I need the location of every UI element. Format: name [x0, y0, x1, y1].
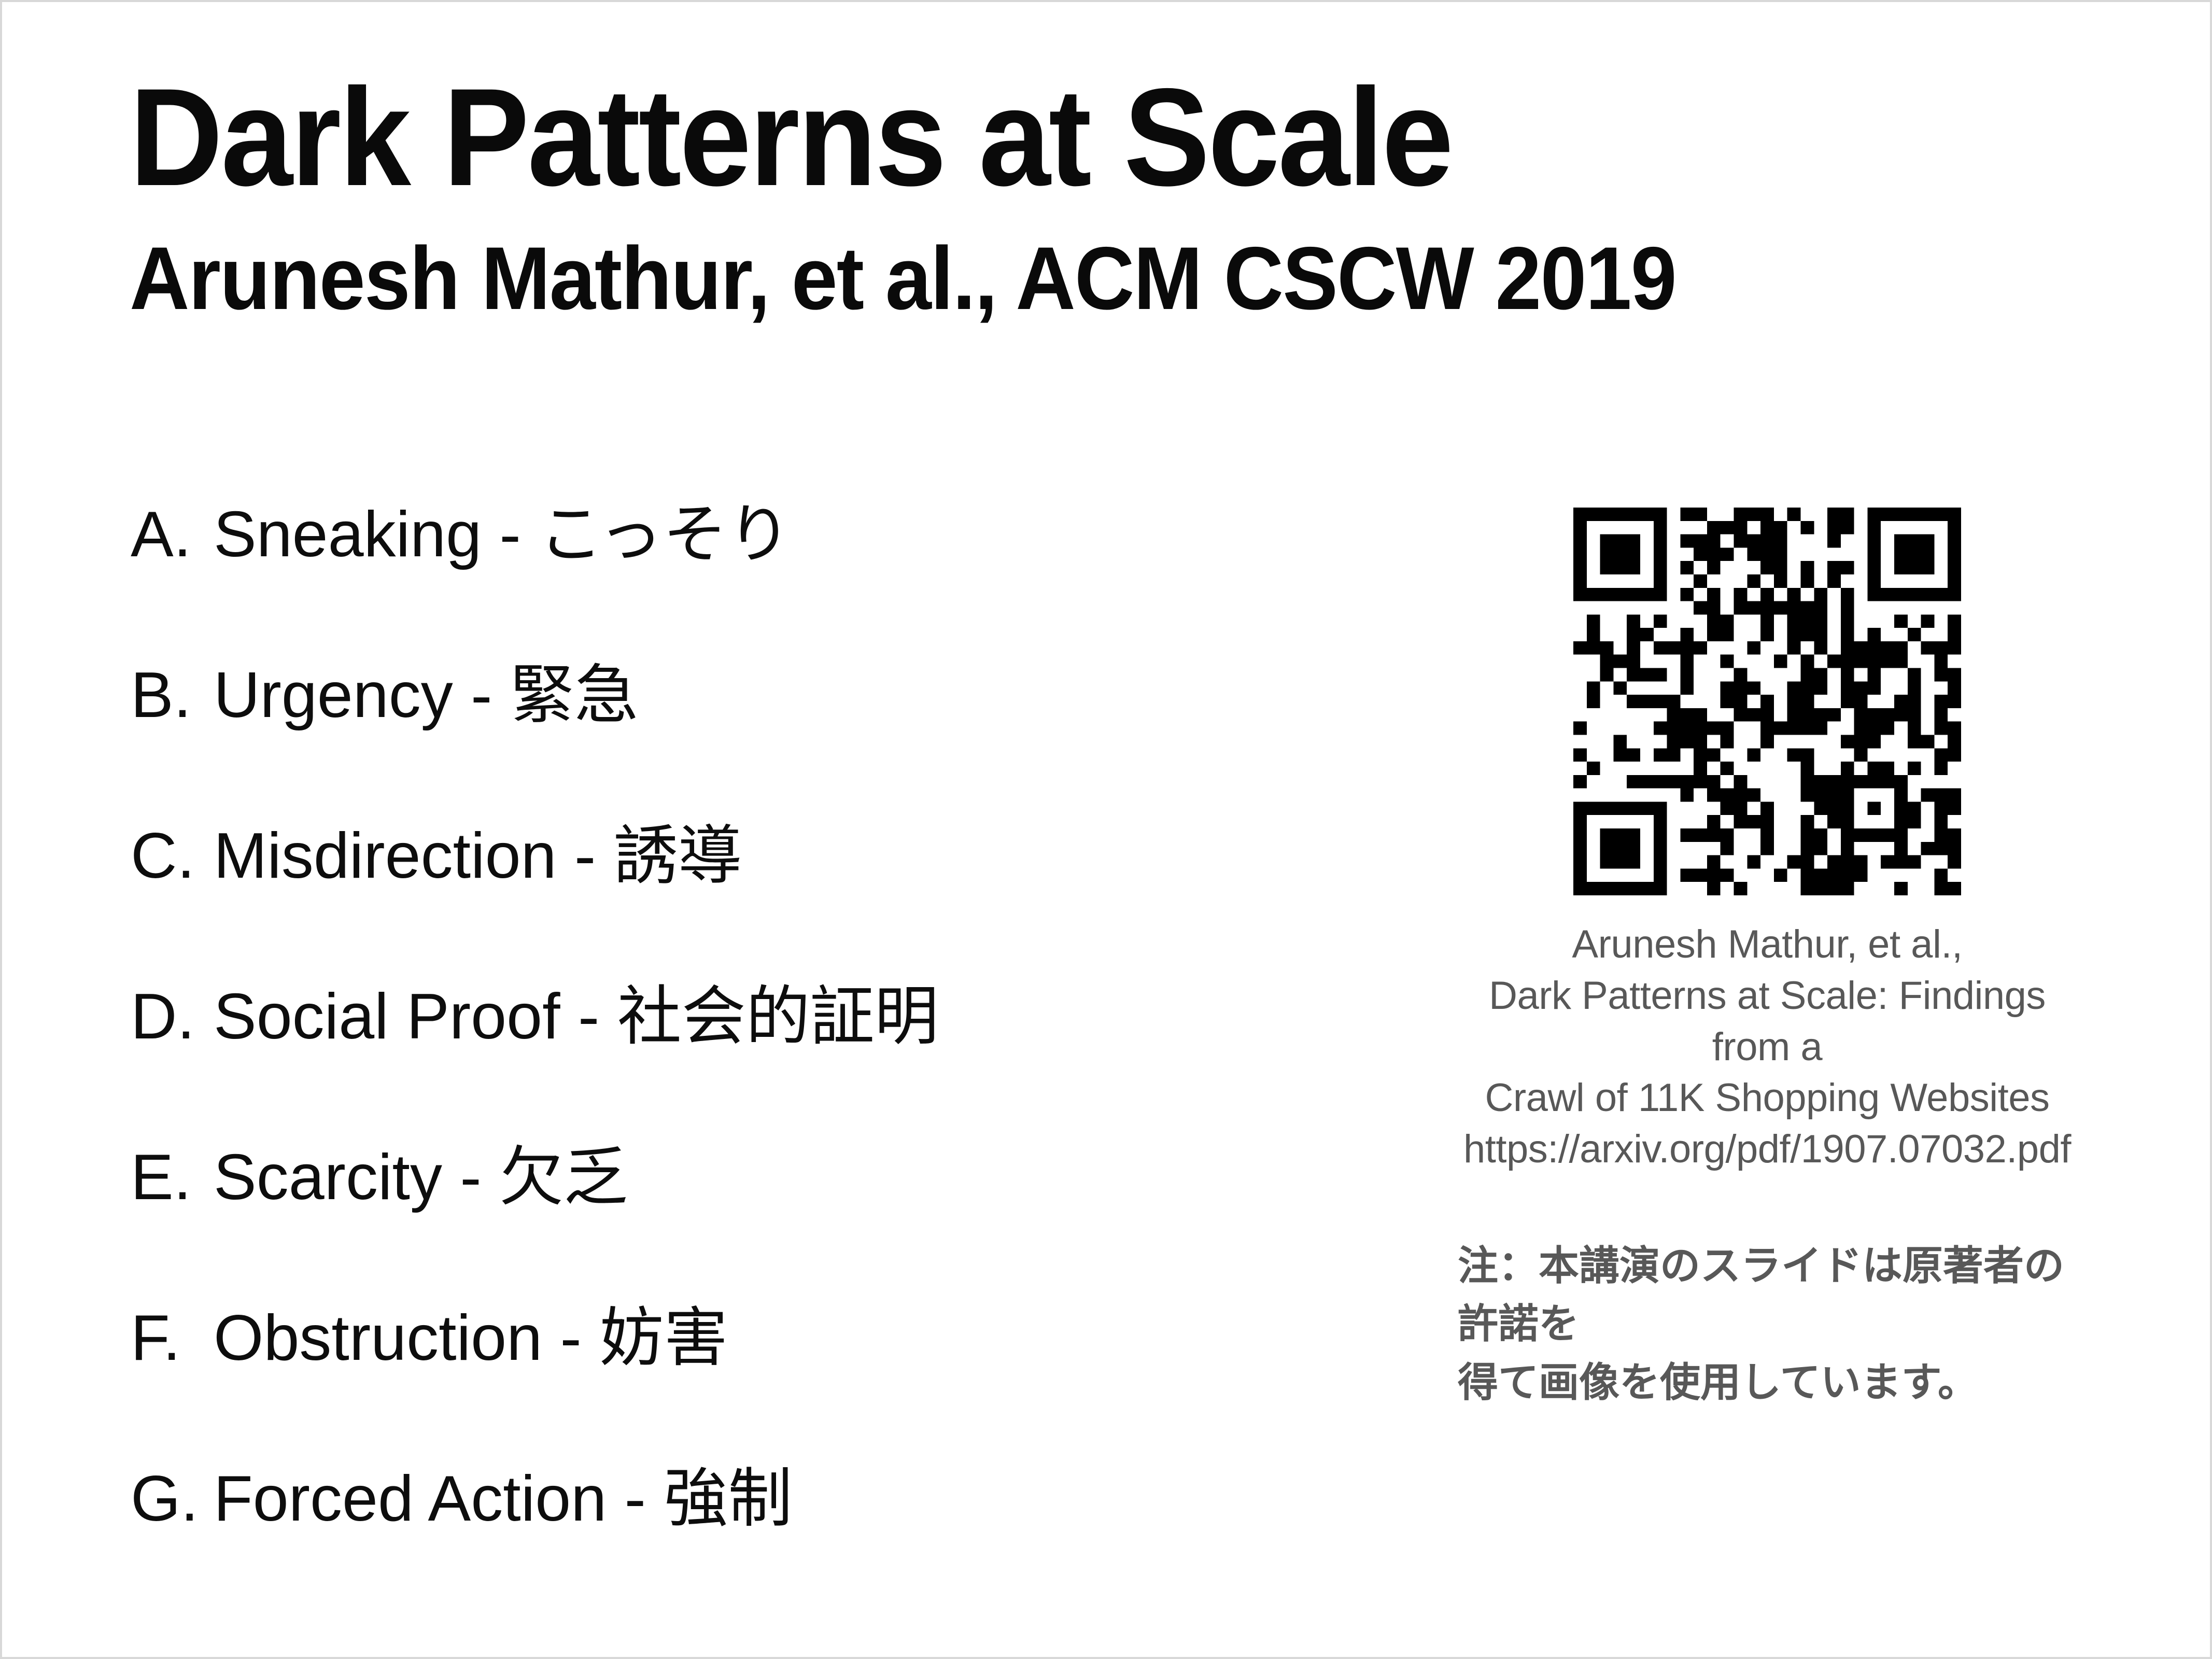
list-item: F. Obstruction - 妨害	[131, 1306, 1427, 1467]
qr-code-icon[interactable]	[1573, 508, 1961, 895]
list-item-marker: C.	[131, 824, 214, 888]
permission-note-line: 得て画像を使用しています。	[1458, 1353, 2082, 1411]
dark-pattern-list: A. Sneaking - こっそり B. Urgency - 緊急 C. Mi…	[131, 502, 1427, 1627]
list-item-marker: F.	[131, 1306, 214, 1370]
list-item: G. Forced Action - 強制	[131, 1467, 1427, 1627]
list-item-marker: D.	[131, 985, 214, 1049]
list-item-marker: E.	[131, 1145, 214, 1210]
reference-caption-line: Arunesh Mathur, et al.,	[1448, 919, 2086, 971]
reference-caption-line: Crawl of 11K Shopping Websites	[1448, 1073, 2086, 1124]
page-title: Dark Patterns at Scale	[130, 64, 1721, 210]
list-item-label: Scarcity - 欠乏	[214, 1145, 628, 1210]
list-item-label: Urgency - 緊急	[214, 663, 639, 727]
list-item-marker: A.	[131, 502, 214, 567]
list-item: D. Social Proof - 社会的証明	[131, 985, 1427, 1145]
list-item-marker: B.	[131, 663, 214, 727]
list-item-label: Misdirection - 誘導	[214, 824, 742, 888]
title-block: Dark Patterns at Scale Arunesh Mathur, e…	[130, 64, 1840, 329]
reference-caption: Arunesh Mathur, et al., Dark Patterns at…	[1448, 919, 2086, 1175]
reference-column: Arunesh Mathur, et al., Dark Patterns at…	[1448, 508, 2086, 1411]
presentation-slide: Dark Patterns at Scale Arunesh Mathur, e…	[0, 0, 2212, 1659]
list-item-marker: G.	[131, 1467, 214, 1531]
permission-note: 注：本講演のスライドは原著者の許諾を 得て画像を使用しています。	[1448, 1236, 2086, 1411]
page-subtitle: Arunesh Mathur, et al., ACM CSCW 2019	[130, 229, 1721, 329]
list-item: A. Sneaking - こっそり	[131, 502, 1427, 663]
list-item-label: Sneaking - こっそり	[214, 502, 792, 567]
list-item-label: Forced Action - 強制	[214, 1467, 792, 1531]
list-item: B. Urgency - 緊急	[131, 663, 1427, 824]
list-item-label: Social Proof - 社会的証明	[214, 985, 939, 1049]
permission-note-line: 注：本講演のスライドは原著者の許諾を	[1458, 1236, 2082, 1353]
reference-url[interactable]: https://arxiv.org/pdf/1907.07032.pdf	[1448, 1124, 2086, 1175]
reference-caption-line: Dark Patterns at Scale: Findings from a	[1448, 971, 2086, 1073]
list-item: E. Scarcity - 欠乏	[131, 1145, 1427, 1306]
list-item-label: Obstruction - 妨害	[214, 1306, 728, 1370]
list-item: C. Misdirection - 誘導	[131, 824, 1427, 985]
